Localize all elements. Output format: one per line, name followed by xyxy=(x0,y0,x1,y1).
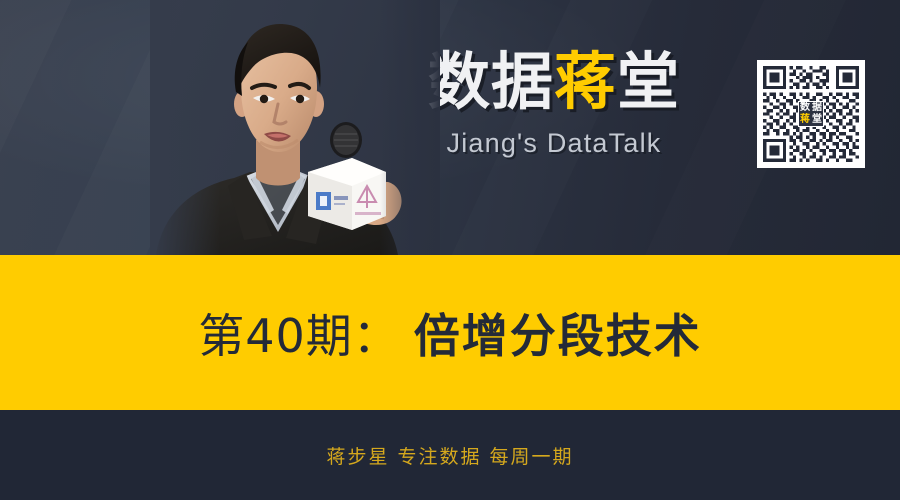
qr-center-logo: 数 据 蒋 堂 xyxy=(798,101,824,127)
footer-tagline: 蒋步星 专注数据 每周一期 xyxy=(326,442,573,469)
episode-title: 第40期：倍增分段技术 xyxy=(198,300,702,366)
footer-bar: 蒋步星 专注数据 每周一期 xyxy=(0,410,900,500)
episode-number-label: 第40期： xyxy=(198,309,400,363)
brand-title-part-2: 堂 xyxy=(617,45,680,118)
photo-left-fade xyxy=(150,0,220,255)
photo-right-fade xyxy=(380,0,440,255)
qr-matrix: 数 据 蒋 堂 xyxy=(763,66,859,162)
qr-logo-char-1: 数 xyxy=(800,103,810,113)
hero-section: 数据蒋堂 Jiang's DataTalk xyxy=(0,0,900,255)
qr-logo-char-4: 堂 xyxy=(812,115,822,125)
brand-title-cn: 数据蒋堂 xyxy=(424,46,684,118)
brand-title-part-1: 数据 xyxy=(428,45,554,118)
episode-topic-label: 倍增分段技术 xyxy=(414,309,702,363)
qr-code[interactable]: 数 据 蒋 堂 xyxy=(757,60,865,168)
episode-band: 第40期：倍增分段技术 xyxy=(0,255,900,410)
brand-block: 数据蒋堂 Jiang's DataTalk xyxy=(424,46,684,160)
brand-subtitle-en: Jiang's DataTalk xyxy=(424,126,684,160)
qr-logo-char-3: 蒋 xyxy=(800,115,810,125)
slide-cover: 数据蒋堂 Jiang's DataTalk xyxy=(0,0,900,500)
qr-logo-char-2: 据 xyxy=(812,103,822,113)
speaker-photo xyxy=(150,0,440,255)
brand-title-part-accent: 蒋 xyxy=(554,45,617,118)
